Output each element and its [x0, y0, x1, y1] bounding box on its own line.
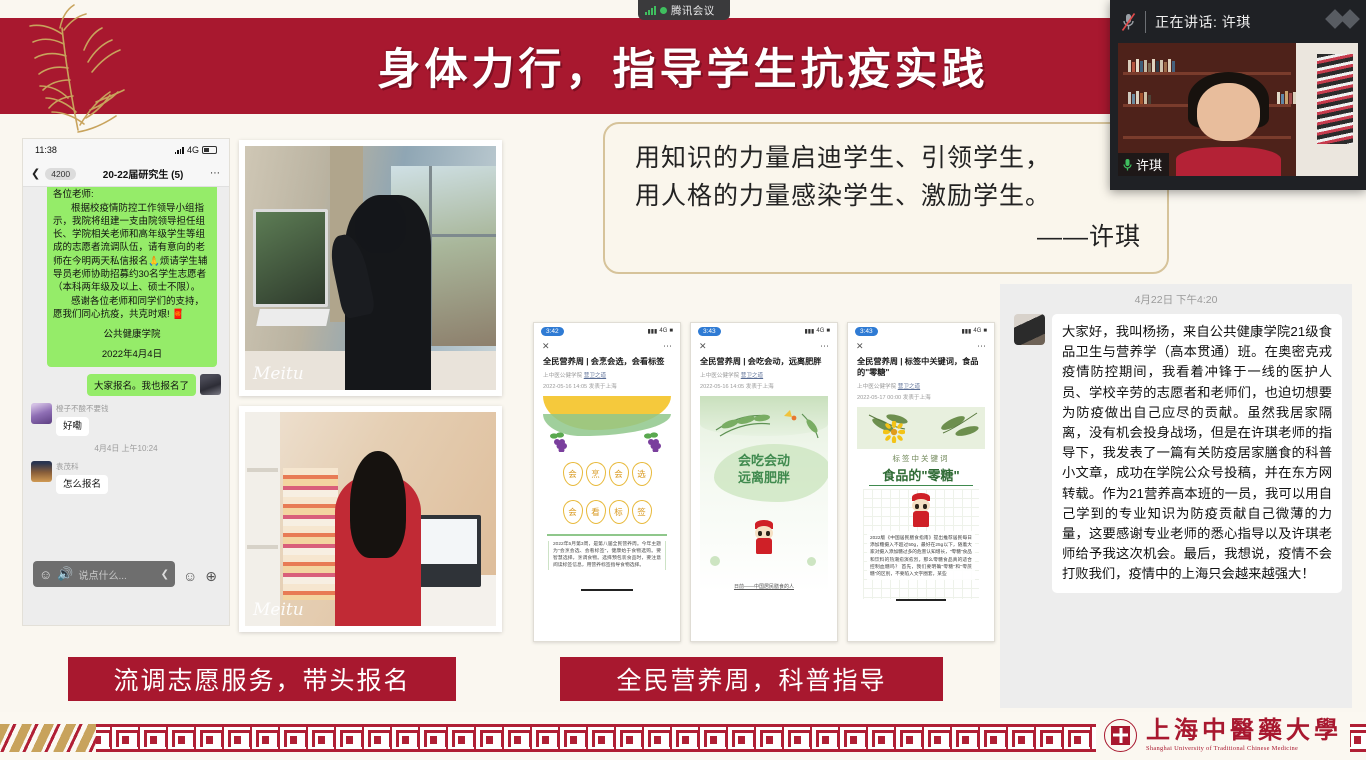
home-indicator: [896, 599, 946, 601]
mascot-doll-icon: [751, 520, 777, 554]
status-time: 3:43: [698, 327, 721, 336]
cover-line-1: 会吃会动: [700, 452, 828, 470]
volunteer-phone-call-photo: Meitu: [239, 140, 502, 396]
chat-title: 20-22届研究生 (5): [81, 166, 205, 181]
sender-nickname: 袁茂科: [56, 461, 108, 472]
message-bubble: 大家报名。我也报名了: [87, 374, 196, 396]
chat-input[interactable]: 说点什么...: [78, 567, 155, 582]
avatar[interactable]: [200, 374, 221, 395]
cover-chars-row2: 会 看 标 签: [543, 500, 671, 524]
more-dots-icon[interactable]: ⋯: [977, 341, 986, 352]
phone-status-bar: 3:43 ▮▮▮ 4G ■: [691, 323, 837, 339]
person-hair: [350, 451, 405, 558]
cover-char: 标: [609, 500, 629, 524]
cover-char: 会: [563, 500, 583, 524]
cover-headline: 会吃会动 远离肥胖: [700, 452, 828, 487]
status-time: 11:38: [35, 145, 57, 155]
keyboard: [256, 309, 330, 326]
signal-bars-icon: [645, 6, 656, 15]
bookshelf: [245, 412, 280, 626]
close-icon[interactable]: ✕: [856, 341, 864, 352]
chat-row-incoming: 橙子不酸不要钱 好嘞: [31, 403, 221, 434]
battery-icon: ■: [826, 328, 830, 334]
wechat-navbar: ❮ 4200 20-22届研究生 (5) ⋯: [23, 161, 229, 187]
article-toolbar: ✕ ⋯: [534, 339, 680, 354]
cover-char: 看: [586, 500, 606, 524]
article-publish-info: 2022-05-16 14:05 发表于上海: [691, 379, 837, 390]
university-name-en: Shanghai University of Traditional Chine…: [1146, 745, 1342, 752]
more-dots-icon[interactable]: ⋯: [210, 168, 221, 179]
video-participant-panel[interactable]: 正在讲话: 许琪: [1110, 0, 1366, 190]
article-title: 全民营养周 | 会烹会选，会看标签: [534, 354, 680, 368]
article-account: 上中医公健学院: [543, 373, 582, 379]
microphone-icon: [1122, 158, 1133, 172]
article-cover-image: 会吃会动 远离肥胖 日前——中国居民膳食的人: [700, 396, 828, 592]
article-publish-info: 2022-05-16 14:05 发表于上海: [534, 379, 680, 390]
article-column[interactable]: 营卫之道: [741, 373, 763, 379]
cover-char: 签: [632, 500, 652, 524]
tencent-meeting-label: 腾讯会议: [671, 3, 715, 18]
sender-nickname: 橙子不酸不要钱: [56, 403, 109, 414]
caption-banner-right: 全民营养周，科普指导: [560, 657, 943, 701]
meitu-watermark: Meitu: [253, 600, 304, 620]
signal-bars-icon: ▮▮▮: [804, 328, 814, 335]
announcement-bubble: 各位老师: 根据校疫情防控工作领导小组指示，我院将组建一支由院领导担任组长、学院…: [47, 187, 217, 367]
article-source: 上中医公健学院 营卫之道: [848, 379, 994, 390]
network-label: 4G: [816, 328, 824, 334]
video-panel-header: 正在讲话: 许琪: [1110, 0, 1366, 43]
unread-badge[interactable]: 4200: [45, 168, 76, 180]
person-body: [1176, 147, 1282, 176]
article-screenshot-2: 3:43 ▮▮▮ 4G ■ ✕ ⋯ 全民营养周 | 会吃会动，远离肥胖 上中医公…: [690, 322, 838, 642]
person-face: [1197, 83, 1259, 142]
article-account: 上中医公健学院: [700, 373, 739, 379]
mascot-doll-icon: [908, 493, 934, 527]
network-label: 4G: [187, 145, 199, 155]
sun-flower-icon: [883, 421, 905, 443]
announcement-org: 公共健康学院: [53, 328, 211, 341]
university-seal-icon: [1104, 719, 1137, 752]
cover-headline: 食品的"零糖": [857, 465, 985, 484]
caption-banner-left: 流调志愿服务，带头报名: [68, 657, 456, 701]
smiley-icon[interactable]: ☺: [183, 568, 197, 585]
avatar[interactable]: [1014, 314, 1045, 345]
cover-body-text: 2022版《中国居民膳食指南》提出推荐居民每日添加糖摄入不超过50g，最好在25…: [867, 531, 975, 581]
slide-footer: 上海中醫藥大學 Shanghai University of Tradition…: [0, 712, 1366, 760]
participant-name: 许琪: [1136, 155, 1162, 174]
announcement-para1: 根据校疫情防控工作领导小组指示，我院将组建一支由院领导担任组长、学院相关老师和高…: [53, 202, 211, 294]
leaf-icon: [857, 407, 985, 451]
gold-stripe-decoration: [0, 724, 96, 752]
announcement-greeting: 各位老师:: [53, 188, 211, 201]
university-logo: 上海中醫藥大學 Shanghai University of Tradition…: [1096, 714, 1350, 756]
leaf-icon: [706, 400, 828, 446]
wechat-screenshot-right: 4月22日 下午4:20 大家好，我叫杨扬，来自公共健康学院21级食品卫生与营养…: [1000, 284, 1352, 708]
divider: [1145, 11, 1146, 33]
cover-char: 会: [609, 462, 629, 486]
signal-bars-icon: ▮▮▮: [647, 328, 657, 335]
battery-icon: [202, 146, 217, 154]
cover-line-2: 远离肥胖: [700, 469, 828, 487]
signal-bars-icon: [175, 147, 184, 154]
avatar[interactable]: [31, 461, 52, 482]
cover-footer-text: 日前——中国居民膳食的人: [708, 583, 820, 590]
avatar[interactable]: [31, 403, 52, 424]
speaking-status-label: 正在讲话: 许琪: [1155, 12, 1251, 32]
chevron-left-icon[interactable]: ❮: [161, 569, 169, 580]
message-bubble: 大家好，我叫杨扬，来自公共健康学院21级食品卫生与营养学（高本贯通）班。在奥密克…: [1052, 314, 1342, 593]
chat-input-bar[interactable]: ☺ 🔊 说点什么... ❮: [33, 561, 175, 587]
home-indicator: [581, 589, 633, 591]
cover-char: 烹: [586, 462, 606, 486]
status-time: 3:43: [855, 327, 878, 336]
chat-row-incoming: 袁茂科 怎么报名: [31, 461, 221, 492]
emoji-icon[interactable]: ☺: [39, 567, 52, 582]
article-title: 全民营养周 | 标签中关键词，食品的"零糖": [848, 354, 994, 379]
curtain: [1317, 54, 1353, 144]
cover-body-text: 2022年5月第3周，是第八届全民营养周。今年主题为"会烹会选、会看标签"，健康…: [548, 541, 666, 570]
article-screenshot-3: 3:43 ▮▮▮ 4G ■ ✕ ⋯ 全民营养周 | 标签中关键词，食品的"零糖"…: [847, 322, 995, 642]
article-account: 上中医公健学院: [857, 384, 896, 390]
grape-icon: [549, 432, 571, 452]
article-screenshot-1: 3:42 ▮▮▮ 4G ■ ✕ ⋯ 全民营养周 | 会烹会选，会看标签 上中医公…: [533, 322, 681, 642]
laptop: [413, 515, 481, 588]
quote-line-2: 用人格的力量感染学生、激励学生。: [635, 178, 1141, 216]
microphone-muted-icon[interactable]: [1121, 12, 1136, 32]
signal-bars-icon: ▮▮▮: [961, 328, 971, 335]
cover-char: 会: [563, 462, 583, 486]
article-source: 上中医公健学院 营卫之道: [691, 368, 837, 379]
chevron-left-icon[interactable]: ❮: [31, 167, 40, 180]
cover-subtitle: 标签中关键词: [857, 453, 985, 464]
quote-box: 用知识的力量启迪学生、引领学生， 用人格的力量感染学生、激励学生。 ——许琪: [603, 122, 1169, 274]
chat-row-incoming: 大家好，我叫杨扬，来自公共健康学院21级食品卫生与营养学（高本贯通）班。在奥密克…: [1000, 314, 1352, 593]
network-label: 4G: [659, 328, 667, 334]
wechat-message-list[interactable]: 各位老师: 根据校疫情防控工作领导小组指示，我院将组建一支由院领导担任组长、学院…: [23, 187, 229, 599]
article-toolbar: ✕ ⋯: [848, 339, 994, 354]
status-time: 3:42: [541, 327, 564, 336]
article-cover-image: 会 烹 会 选 会 看 标 签 2022年5月第3周，是第八届全民营养周。今年主…: [543, 396, 671, 592]
message-bubble: 好嘞: [56, 417, 89, 436]
more-dots-icon[interactable]: ⋯: [663, 341, 672, 352]
striped-cushion: [283, 468, 338, 601]
tencent-meeting-status-pill[interactable]: 腾讯会议: [638, 0, 730, 20]
chat-timestamp: 4月4日 上午10:24: [31, 443, 221, 454]
chat-row-outgoing: 大家报名。我也报名了: [31, 374, 221, 396]
more-dots-icon[interactable]: ⋯: [820, 341, 829, 352]
university-name-cn: 上海中醫藥大學: [1146, 718, 1342, 742]
grape-icon: [643, 432, 665, 452]
wechat-input-icons: ☺ ⊕: [183, 568, 217, 585]
close-icon[interactable]: ✕: [542, 341, 550, 352]
announcement-date: 2022年4月4日: [53, 348, 211, 361]
cover-char: 选: [632, 462, 652, 486]
quote-attribution: ——许琪: [635, 217, 1141, 253]
battery-icon: ■: [669, 328, 673, 334]
article-title: 全民营养周 | 会吃会动，远离肥胖: [691, 354, 837, 368]
phone-status-bar: 3:42 ▮▮▮ 4G ■: [534, 323, 680, 339]
article-publish-info: 2022-05-17 00:00 发表于上海: [848, 390, 994, 401]
recording-dot-icon: [660, 7, 667, 14]
cover-chars-row1: 会 烹 会 选: [543, 462, 671, 486]
monitor: [253, 209, 328, 307]
chat-timestamp: 4月22日 下午4:20: [1000, 284, 1352, 314]
message-bubble: 怎么报名: [56, 475, 108, 494]
plus-circle-icon[interactable]: ⊕: [205, 568, 217, 585]
teacher-laptop-photo: Meitu: [239, 406, 502, 632]
close-icon[interactable]: ✕: [699, 341, 707, 352]
phone-status-bar: 11:38 4G: [23, 139, 229, 161]
article-source: 上中医公健学院 营卫之道: [534, 368, 680, 379]
article-column[interactable]: 营卫之道: [898, 384, 920, 390]
tencent-meeting-logo-icon: [1328, 12, 1357, 26]
person-head: [355, 195, 405, 254]
article-toolbar: ✕ ⋯: [691, 339, 837, 354]
article-column[interactable]: 营卫之道: [584, 373, 606, 379]
slide-stage: 腾讯会议 身体力行，指导学生抗疫实践 11:38: [0, 0, 1366, 760]
announcement-para2: 感谢各位老师和同学们的支持，愿我们同心抗疫，共克时艰! 🧧: [53, 295, 211, 321]
voice-icon[interactable]: 🔊: [57, 566, 73, 582]
network-label: 4G: [973, 328, 981, 334]
participant-name-badge: 许琪: [1118, 153, 1169, 176]
phone-status-bar: 3:43 ▮▮▮ 4G ■: [848, 323, 994, 339]
battery-icon: ■: [983, 328, 987, 334]
meitu-watermark: Meitu: [253, 364, 304, 384]
wechat-screenshot-left: 11:38 4G ❮ 4200 20-22届研究生 (5) ⋯ 各位老师: 根据…: [22, 138, 230, 626]
quote-line-1: 用知识的力量启迪学生、引领学生，: [635, 140, 1141, 178]
article-cover-image: 标签中关键词 食品的"零糖" 2022版《中国居民膳食指南》提出推荐居民每日添加…: [857, 407, 985, 603]
